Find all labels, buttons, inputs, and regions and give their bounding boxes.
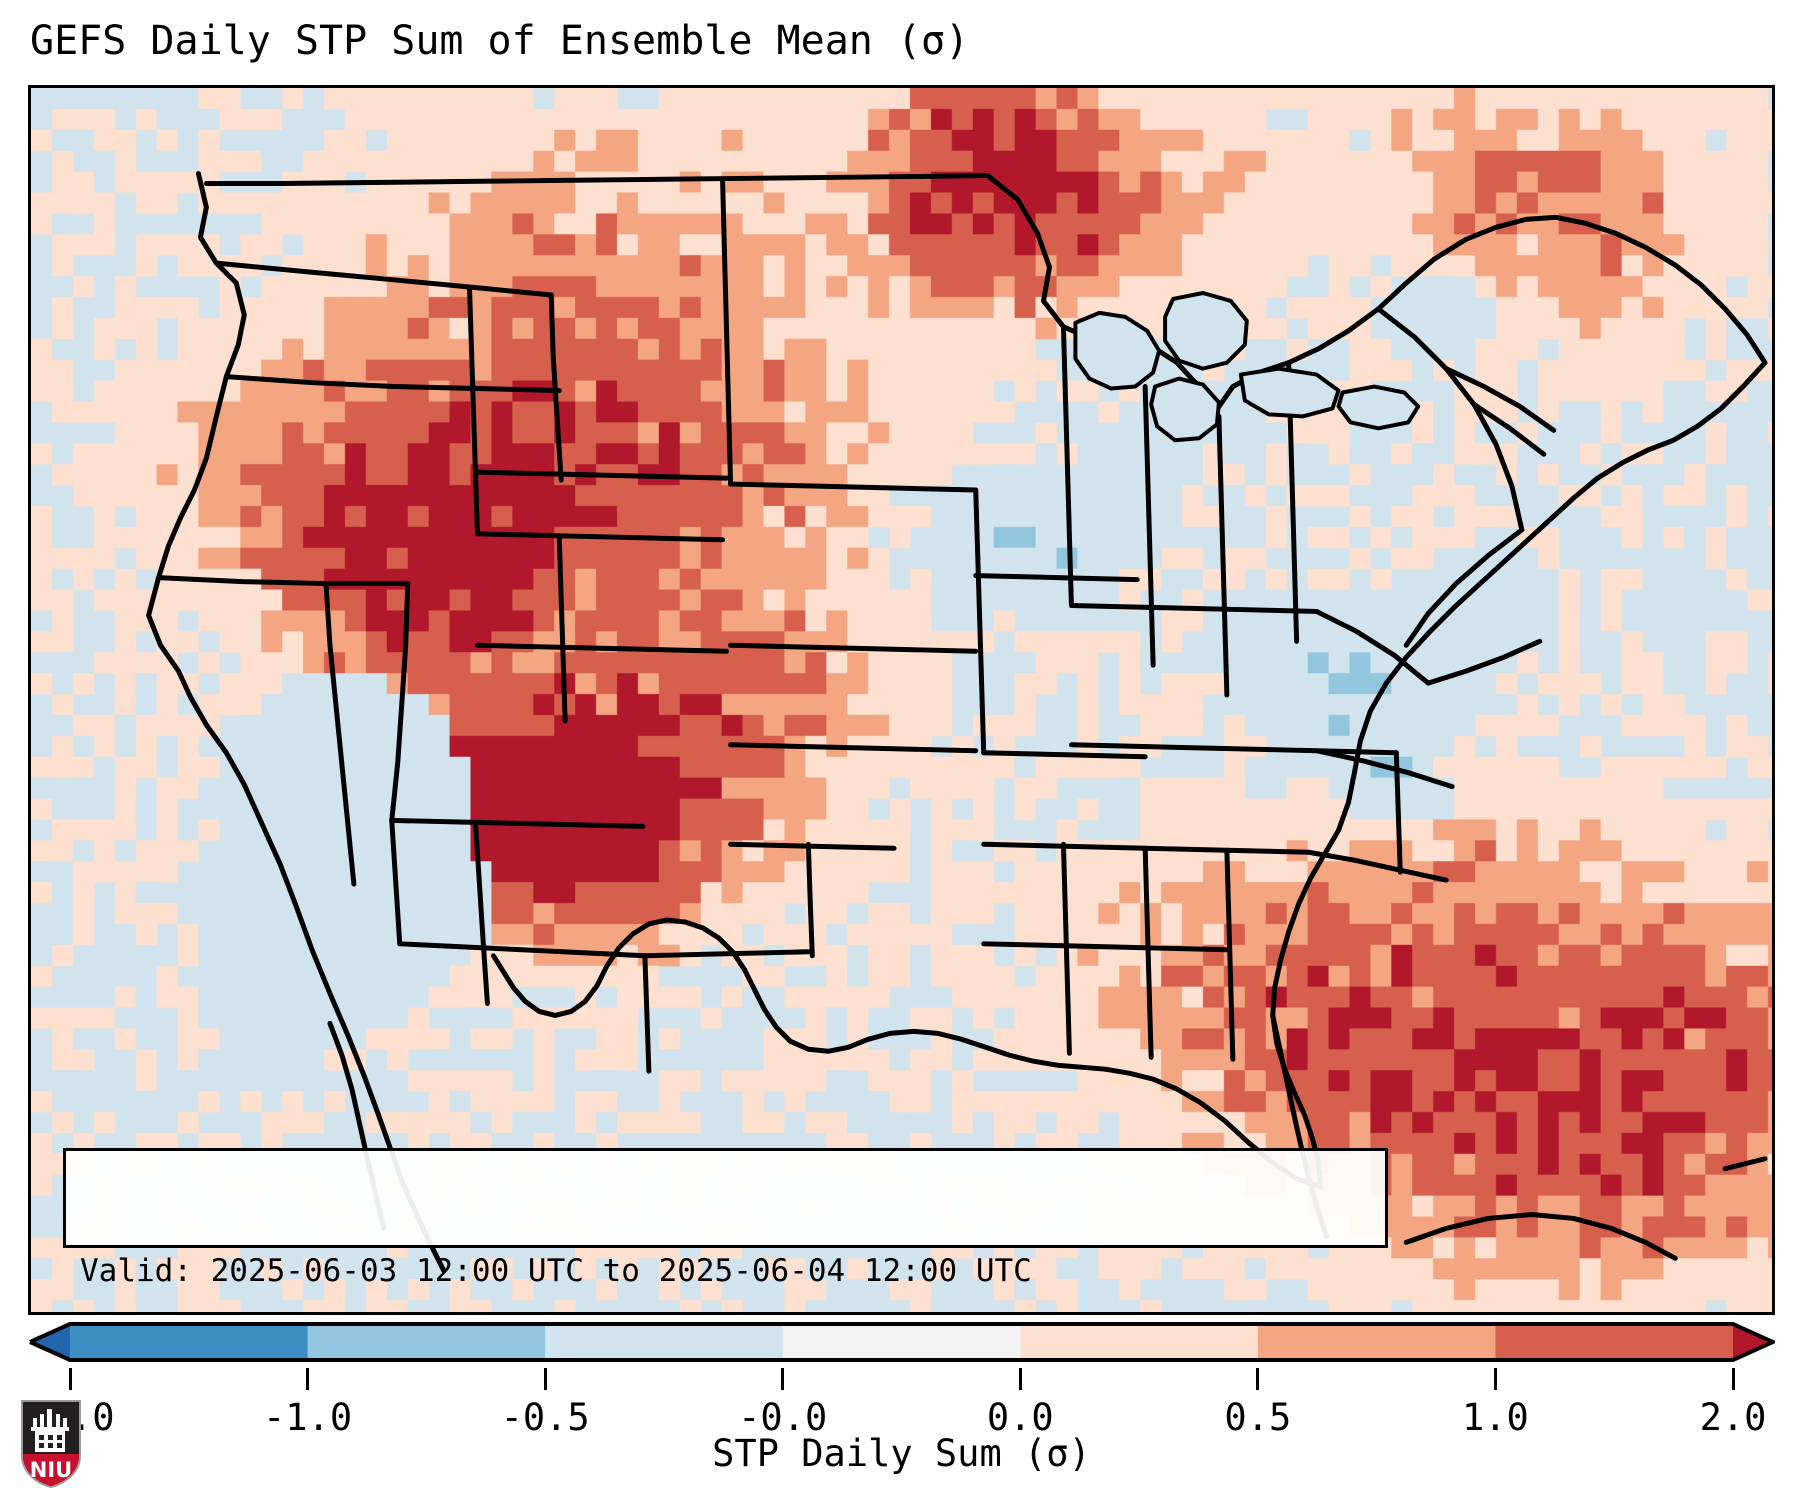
colorbar-band-1	[308, 1324, 546, 1360]
forecast-info-box: Valid: 2025-06-03 12:00 UTC to 2025-06-0…	[63, 1148, 1388, 1248]
colorbar-band-2	[545, 1324, 783, 1360]
stp-heatmap-layer	[31, 88, 1772, 1312]
colorbar-tick-4	[1019, 1368, 1022, 1390]
colorbar-tick-1	[306, 1368, 309, 1390]
colorbar-band-3	[783, 1324, 1021, 1360]
colorbar-bands	[70, 1324, 1734, 1360]
map-panel: Valid: 2025-06-03 12:00 UTC to 2025-06-0…	[28, 85, 1775, 1315]
logo-text: NIU	[30, 1458, 72, 1482]
colorbar-tick-7	[1732, 1368, 1735, 1390]
colorbar-tick-3	[781, 1368, 784, 1390]
colorbar-tick-6	[1494, 1368, 1497, 1390]
colorbar-tick-0	[69, 1368, 72, 1390]
colorbar-tick-labels: -2.0-1.0-0.5-0.00.00.51.02.0	[0, 1370, 1803, 1430]
valid-time-line: Valid: 2025-06-03 12:00 UTC to 2025-06-0…	[80, 1249, 1371, 1294]
niu-logo: NIU	[18, 1398, 84, 1490]
colorbar-band-4	[1020, 1324, 1258, 1360]
colorbar-under-arrow	[30, 1324, 70, 1360]
colorbar	[28, 1322, 1775, 1368]
colorbar-tick-5	[1256, 1368, 1259, 1390]
colorbar-band-5	[1258, 1324, 1496, 1360]
colorbar-over-arrow	[1733, 1324, 1773, 1360]
page-title: GEFS Daily STP Sum of Ensemble Mean (σ)	[30, 18, 969, 64]
colorbar-band-0	[70, 1324, 308, 1360]
colorbar-band-6	[1495, 1324, 1733, 1360]
colorbar-axis-label: STP Daily Sum (σ)	[0, 1432, 1803, 1475]
colorbar-tick-2	[544, 1368, 547, 1390]
